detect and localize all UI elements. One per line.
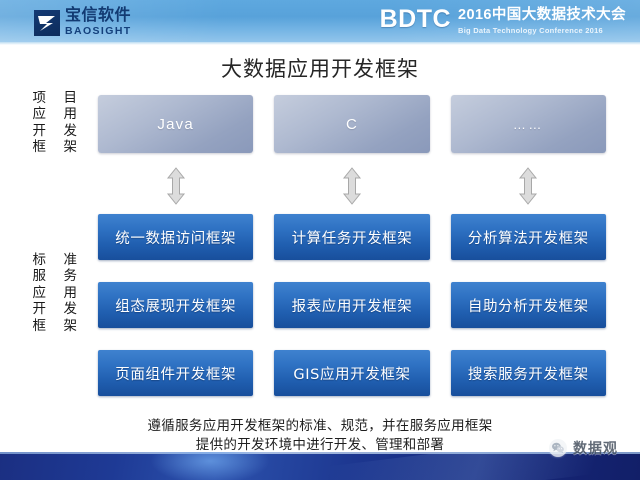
side-label-char: 项 (33, 90, 47, 106)
side-label-char: 开 (33, 123, 47, 139)
conference-title-cn: 2016中国大数据技术大会 (458, 7, 626, 24)
page-title: 大数据应用开发框架 (0, 53, 640, 83)
double-arrow-vertical-icon (451, 167, 606, 205)
footer-glow (150, 452, 270, 480)
connector-arrow-row (98, 167, 606, 205)
caption-text: 遵循服务应用开发框架的标准、规范，并在服务应用框架 提供的开发环境中进行开发、管… (70, 417, 570, 455)
double-arrow-vertical-icon (98, 167, 253, 205)
side-label-char: 架 (64, 318, 78, 334)
baosight-brand: 宝信软件 BAOSIGHT (34, 8, 132, 37)
framework-box-report-application[interactable]: 报表应用开发框架 (274, 282, 429, 328)
side-label-char: 务 (64, 268, 78, 284)
side-label-char: 准 (64, 252, 78, 268)
framework-box-configuration-display[interactable]: 组态展现开发框架 (98, 282, 253, 328)
framework-box-search-service[interactable]: 搜索服务开发框架 (451, 350, 606, 396)
watermark-label: 数据观 (573, 438, 618, 458)
wechat-icon (549, 439, 567, 457)
header-underline (0, 42, 640, 45)
side-label-char: 框 (33, 139, 47, 155)
caption-line-1: 遵循服务应用开发框架的标准、规范，并在服务应用框架 (70, 417, 570, 436)
side-label-char: 发 (64, 123, 78, 139)
side-label-char: 用 (64, 106, 78, 122)
language-box-others[interactable]: …… (451, 95, 606, 153)
conference-acronym: BDTC (380, 7, 451, 32)
language-box-c[interactable]: C (274, 95, 429, 153)
framework-grid: 统一数据访问框架 计算任务开发框架 分析算法开发框架 组态展现开发框架 报表应用… (98, 214, 606, 396)
brand-name-en: BAOSIGHT (65, 26, 132, 38)
side-label-char: 发 (64, 301, 78, 317)
footer-band (0, 452, 640, 480)
side-label-char: 服 (33, 268, 47, 284)
side-label-char: 用 (64, 285, 78, 301)
side-label-char: 开 (33, 301, 47, 317)
side-label-char: 目 (64, 90, 78, 106)
header-band: 宝信软件 BAOSIGHT BDTC 2016中国大数据技术大会 Big Dat… (0, 0, 640, 42)
language-row: Java C …… (98, 95, 606, 153)
framework-box-gis-application[interactable]: GIS应用开发框架 (274, 350, 429, 396)
side-label-char: 框 (33, 318, 47, 334)
slide-root: 宝信软件 BAOSIGHT BDTC 2016中国大数据技术大会 Big Dat… (0, 0, 640, 480)
side-label-standard-service-framework: 标 准 服 务 应 用 开 发 框 架 (24, 252, 86, 334)
framework-box-analysis-algorithm[interactable]: 分析算法开发框架 (451, 214, 606, 260)
brand-name-cn: 宝信软件 (65, 8, 132, 25)
conference-title-en: Big Data Technology Conference 2016 (458, 26, 626, 35)
language-box-java[interactable]: Java (98, 95, 253, 153)
watermark: 数据观 (549, 438, 618, 458)
side-label-char: 标 (33, 252, 47, 268)
framework-box-page-component[interactable]: 页面组件开发框架 (98, 350, 253, 396)
double-arrow-vertical-icon (274, 167, 429, 205)
baosight-logo-icon (34, 10, 60, 36)
side-label-char: 应 (33, 106, 47, 122)
side-label-char: 架 (64, 139, 78, 155)
conference-lockup: BDTC 2016中国大数据技术大会 Big Data Technology C… (380, 5, 626, 35)
framework-box-unified-data-access[interactable]: 统一数据访问框架 (98, 214, 253, 260)
side-label-project-framework: 项 目 应 用 开 发 框 架 (24, 90, 86, 156)
side-label-char: 应 (33, 285, 47, 301)
framework-box-compute-task[interactable]: 计算任务开发框架 (274, 214, 429, 260)
framework-box-self-service-analysis[interactable]: 自助分析开发框架 (451, 282, 606, 328)
